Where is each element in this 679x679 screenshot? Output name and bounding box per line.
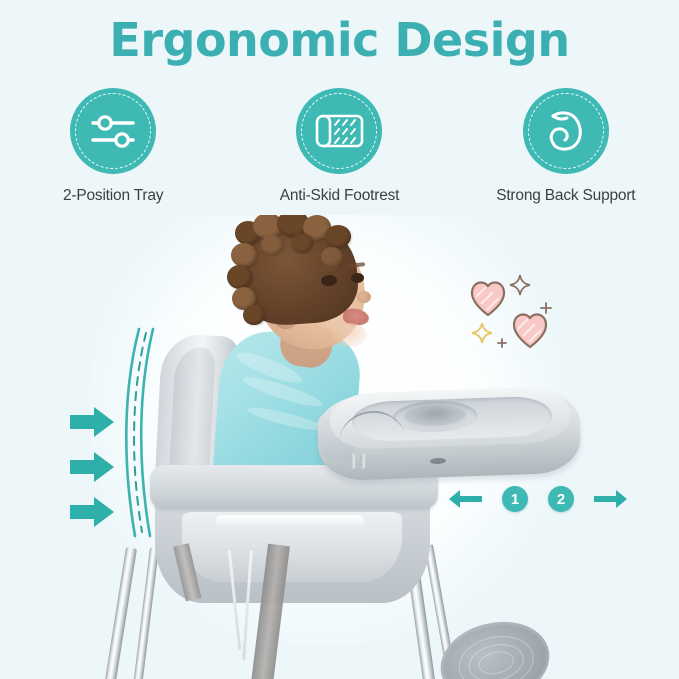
arrow-right-icon bbox=[70, 497, 114, 527]
feature-label: 2-Position Tray bbox=[63, 187, 163, 205]
tray-position-1-badge[interactable]: 1 bbox=[502, 486, 528, 512]
feature-list: 2-Position Tray Anti-Skid Footrest bbox=[0, 88, 679, 205]
tray-position-2-badge[interactable]: 2 bbox=[548, 486, 574, 512]
arrow-left-icon bbox=[448, 489, 482, 509]
tray-ridge bbox=[360, 453, 365, 469]
arrow-right-icon bbox=[70, 452, 114, 482]
feature-item-back-support: Strong Back Support bbox=[461, 88, 671, 205]
sliders-icon bbox=[70, 88, 156, 174]
feature-item-tray: 2-Position Tray bbox=[8, 88, 218, 205]
page-title: Ergonomic Design bbox=[0, 13, 679, 67]
baby-eyebrow bbox=[349, 262, 365, 268]
product-photo: 1 2 bbox=[0, 215, 679, 679]
feature-label: Strong Back Support bbox=[496, 187, 635, 205]
feature-label: Anti-Skid Footrest bbox=[280, 187, 400, 205]
sparkle-icon bbox=[472, 323, 492, 343]
heart-icon bbox=[472, 282, 504, 315]
feature-item-footrest: Anti-Skid Footrest bbox=[234, 88, 444, 205]
flexed-bicep-icon bbox=[523, 88, 609, 174]
baby-chin bbox=[331, 323, 367, 347]
baby-nose bbox=[357, 291, 371, 303]
footrest-mat-icon bbox=[296, 88, 382, 174]
arrow-right-icon bbox=[70, 407, 114, 437]
heart-icon bbox=[514, 314, 546, 347]
sparkle-icon bbox=[510, 275, 530, 295]
tray-ridge bbox=[350, 453, 355, 469]
arrow-right-icon bbox=[594, 489, 628, 509]
infographic-page: Ergonomic Design 2-Position Tray bbox=[0, 0, 679, 679]
chair-seat-notch bbox=[216, 515, 364, 531]
tray-position-indicator: 1 2 bbox=[448, 482, 628, 516]
hearts-sparkle-decor bbox=[462, 267, 582, 363]
back-support-arrows bbox=[70, 405, 120, 535]
